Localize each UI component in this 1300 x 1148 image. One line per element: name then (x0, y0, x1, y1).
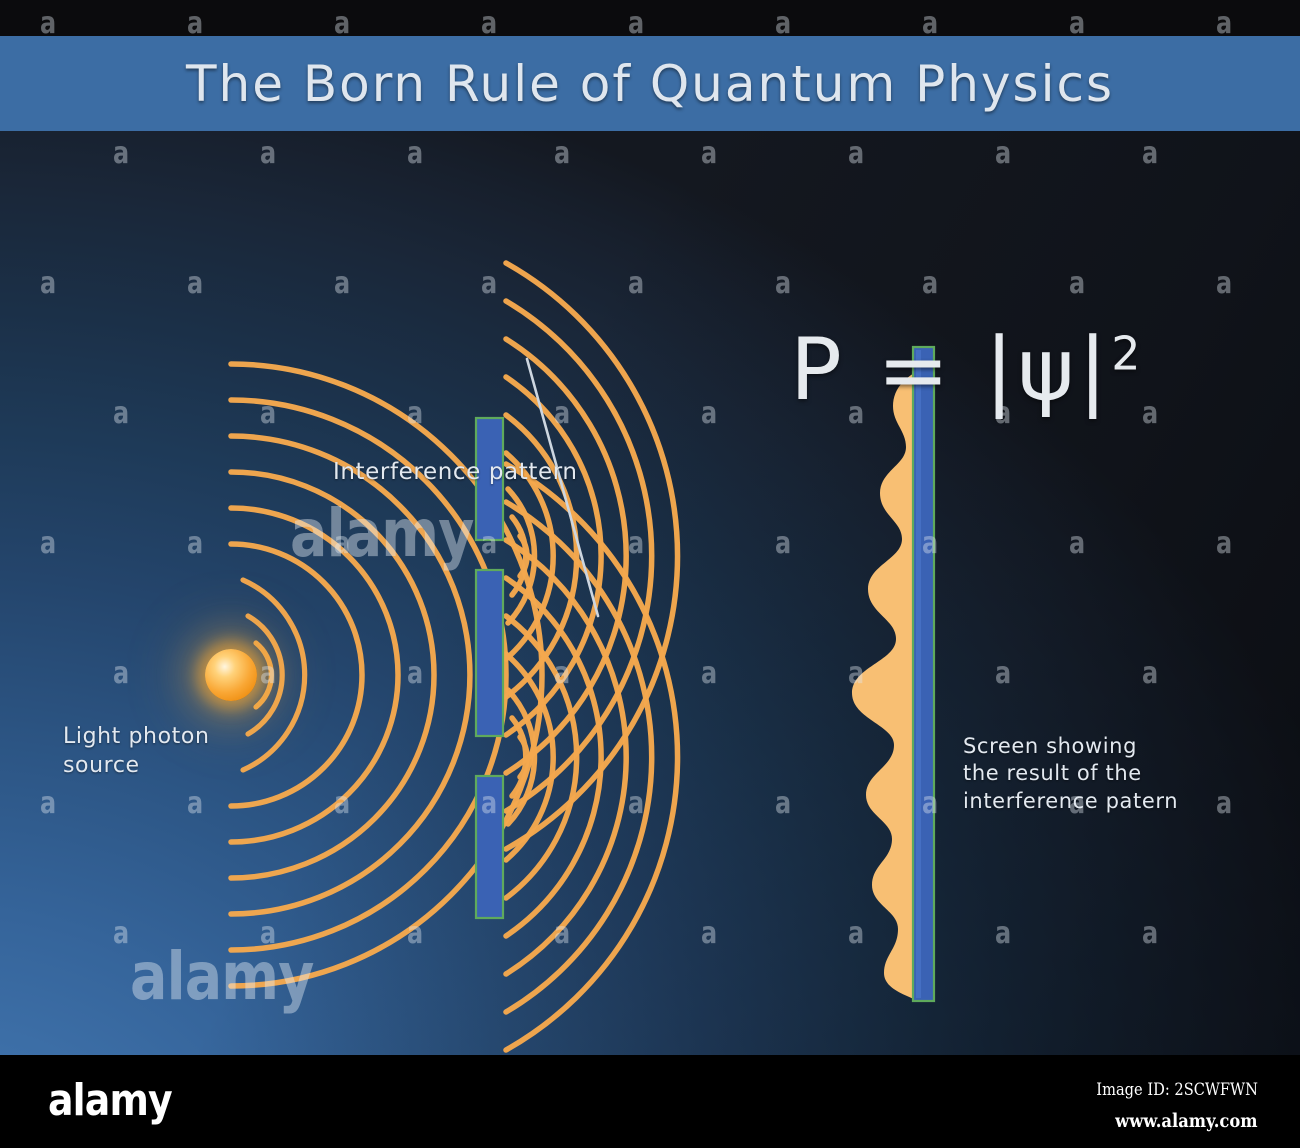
interference-intensity-curve (852, 369, 922, 1001)
illustration-canvas: The Born Rule of Quantum Physics (0, 0, 1300, 1148)
formula-exponent: 2 (1111, 326, 1140, 380)
label-screen-result: Screen showing the result of the interfe… (963, 733, 1178, 815)
label-interference-pattern: Interference pattern (333, 457, 578, 487)
light-photon-source-dot (205, 649, 257, 701)
label-light-photon-source: Light photon source (63, 722, 210, 780)
footer-bar (0, 1055, 1300, 1148)
born-rule-formula: P = |ψ|2 (790, 327, 1141, 413)
footer-url[interactable]: www.alamy.com (1116, 1110, 1258, 1132)
detection-screen-group (0, 131, 1300, 1055)
top-black-strip (0, 0, 1300, 36)
title-banner: The Born Rule of Quantum Physics (0, 36, 1300, 131)
screen-highlight (916, 350, 921, 998)
formula-base: P = |ψ| (790, 320, 1111, 420)
alamy-logo: alamy (48, 1075, 172, 1126)
diagram-panel: Interference pattern Light photon source… (0, 131, 1300, 1055)
footer-image-id: Image ID: 2SCWFWN (1096, 1080, 1258, 1100)
page-title: The Born Rule of Quantum Physics (186, 55, 1114, 113)
